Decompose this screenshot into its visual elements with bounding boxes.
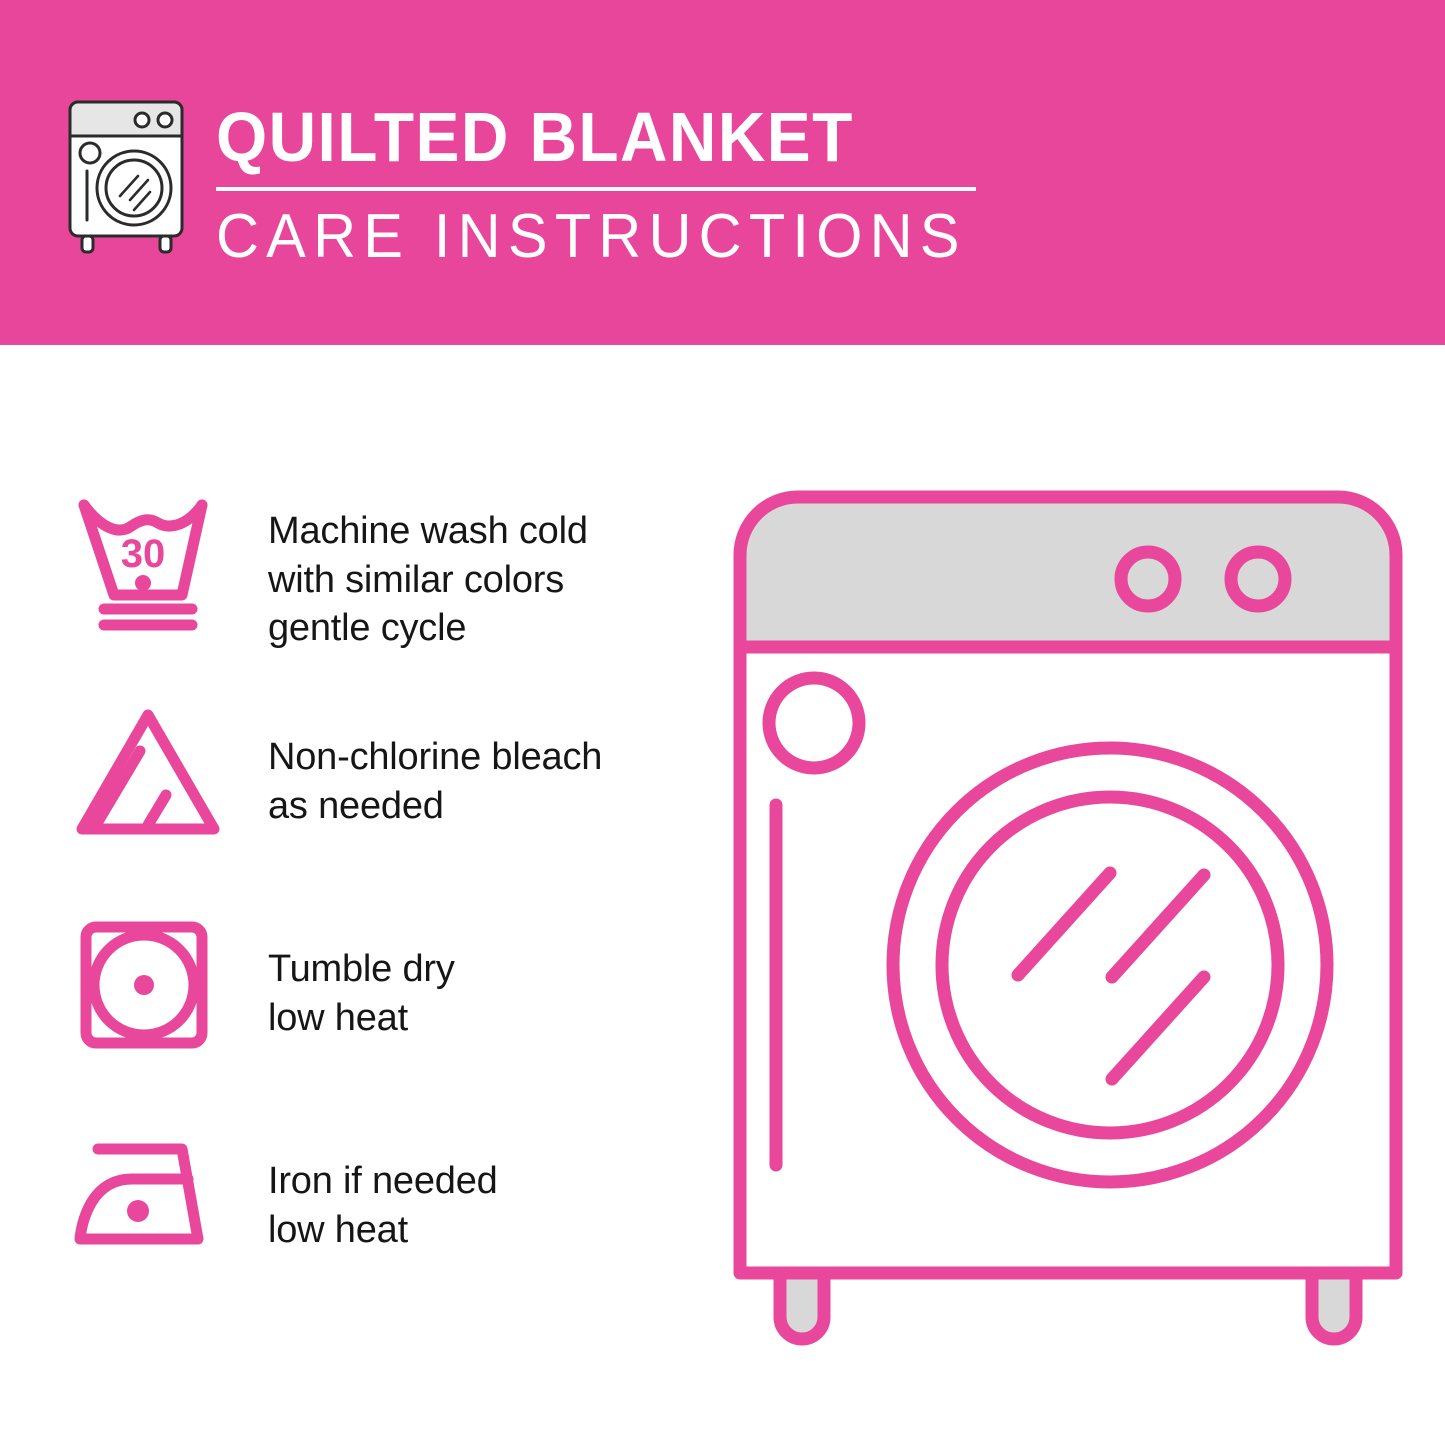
washing-machine-icon xyxy=(62,96,194,256)
care-label-machine-wash: Machine wash cold with similar colors ge… xyxy=(240,485,690,653)
triangle-non-chlorine-bleach-icon xyxy=(70,697,240,843)
title-divider xyxy=(216,187,976,191)
washer-drum-outer xyxy=(893,748,1327,1182)
iron-low-heat-icon xyxy=(70,1121,240,1267)
header-title-block: QUILTED BLANKET CARE INSTRUCTIONS xyxy=(216,96,998,269)
page-subtitle: CARE INSTRUCTIONS xyxy=(216,205,967,268)
header-content: QUILTED BLANKET CARE INSTRUCTIONS xyxy=(62,96,998,269)
front-load-washing-machine-illustration xyxy=(718,475,1418,1355)
care-row-bleach: Non-chlorine bleach as needed xyxy=(70,697,690,909)
care-label-bleach: Non-chlorine bleach as needed xyxy=(240,697,690,830)
washer-detergent-port xyxy=(769,678,859,768)
page-title: QUILTED BLANKET xyxy=(216,102,951,173)
washer-foot-left xyxy=(780,1273,824,1339)
tumble-dry-low-heat-icon xyxy=(70,909,240,1055)
care-label-iron: Iron if needed low heat xyxy=(240,1121,690,1254)
washer-drum-shine-lines xyxy=(1018,873,1204,1079)
care-row-machine-wash: 30 Machine wash cold with similar colors… xyxy=(70,485,690,697)
main-content: 30 Machine wash cold with similar colors… xyxy=(0,345,1445,1445)
washer-control-panel xyxy=(740,497,1396,647)
wash-tub-30-gentle-icon: 30 xyxy=(70,485,240,631)
care-instruction-list: 30 Machine wash cold with similar colors… xyxy=(70,485,690,1333)
wash-temperature-value: 30 xyxy=(121,532,166,576)
care-label-tumble-dry: Tumble dry low heat xyxy=(240,909,690,1042)
care-row-tumble-dry: Tumble dry low heat xyxy=(70,909,690,1121)
care-row-iron: Iron if needed low heat xyxy=(70,1121,690,1333)
washer-foot-right xyxy=(1312,1273,1356,1339)
header-band: QUILTED BLANKET CARE INSTRUCTIONS xyxy=(0,0,1445,345)
